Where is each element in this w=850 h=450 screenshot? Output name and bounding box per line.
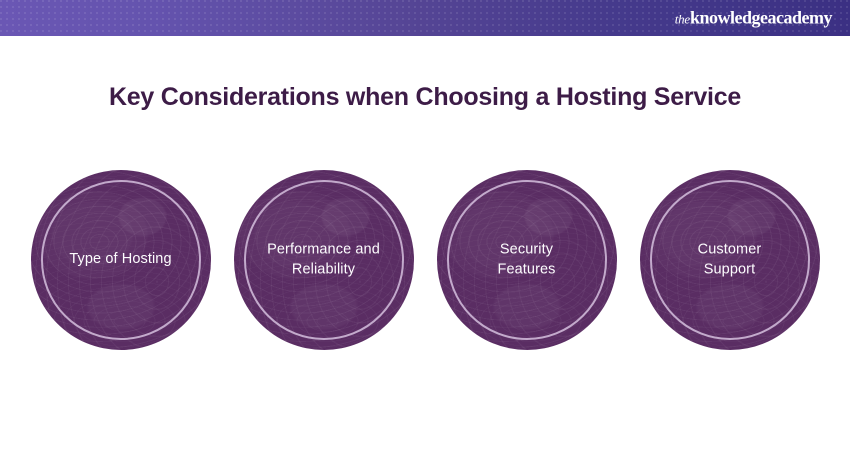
brand-header-bar: theknowledgeacademy [0, 0, 850, 36]
circle-label: Type of Hosting [45, 250, 197, 270]
logo-the-text: the [675, 12, 690, 27]
consideration-circle-customer-support: Customer Support [640, 170, 820, 350]
considerations-circle-row: Type of Hosting Performance and Reliabil… [0, 170, 850, 352]
circle-label: Security Features [451, 240, 603, 279]
consideration-circle-type-of-hosting: Type of Hosting [31, 170, 211, 350]
circle-label: Customer Support [654, 240, 806, 279]
consideration-circle-security-features: Security Features [437, 170, 617, 350]
circle-label: Performance and Reliability [248, 240, 400, 279]
consideration-circle-performance-and-reliability: Performance and Reliability [234, 170, 414, 350]
page-title: Key Considerations when Choosing a Hosti… [0, 82, 850, 112]
logo-knowledgeacademy-text: knowledgeacademy [690, 8, 832, 28]
knowledge-academy-logo: theknowledgeacademy [675, 9, 832, 28]
